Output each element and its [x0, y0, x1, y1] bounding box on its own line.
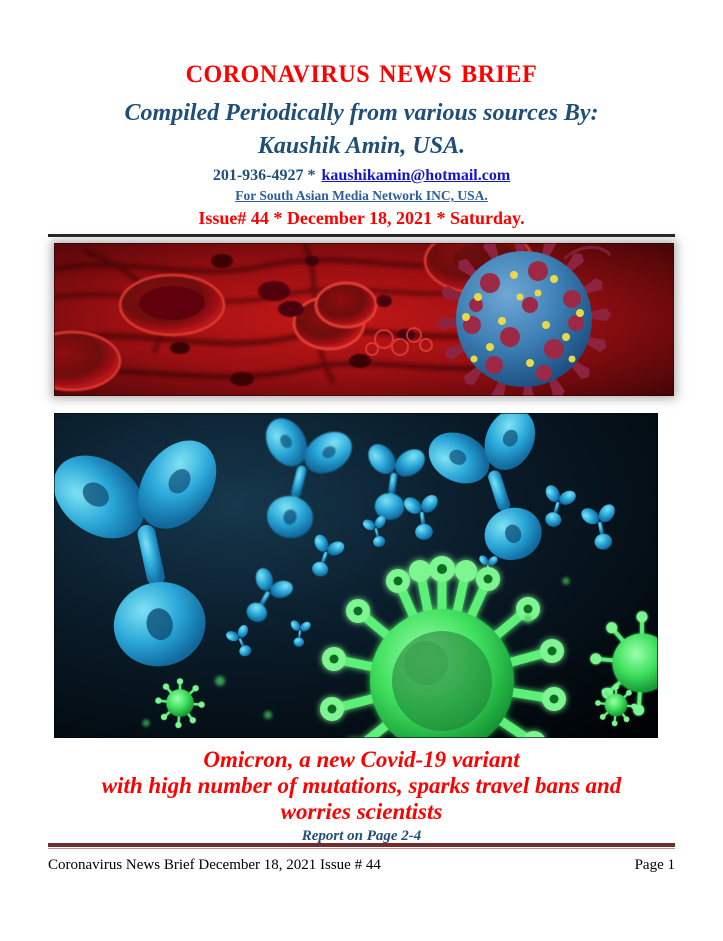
contact-line: 201-936-4927 *kaushikamin@hotmail.com [48, 160, 675, 185]
blood-cells-coronavirus-banner [54, 243, 674, 396]
author-name: Kaushik Amin, USA. [48, 128, 675, 160]
phone-number: 201-936-4927 * [213, 167, 316, 184]
issue-date-line: Issue# 44 * December 18, 2021 * Saturday… [48, 204, 675, 229]
footer-divider [48, 843, 675, 847]
page-title: Coronavirus News Brief [61, 0, 663, 90]
page-footer: Coronavirus News Brief December 18, 2021… [48, 843, 675, 875]
network-link[interactable]: For South Asian Media Network INC, USA. [48, 185, 675, 204]
page-number: Page 1 [635, 856, 675, 875]
antibodies-virus-photo [54, 413, 658, 738]
email-link[interactable]: kaushikamin@hotmail.com [315, 167, 510, 184]
newsletter-page: Coronavirus News Brief Compiled Periodic… [0, 0, 723, 941]
headline-caption: Omicron, a new Covid-19 variant with hig… [48, 738, 675, 825]
masthead-divider [48, 234, 675, 237]
caption-line-1: Omicron, a new Covid-19 variant [48, 747, 675, 773]
compiled-byline: Compiled Periodically from various sourc… [48, 90, 675, 128]
photo-illustration [54, 413, 658, 738]
caption-line-3: worries scientists [48, 799, 675, 825]
banner-illustration [54, 243, 674, 396]
footer-title: Coronavirus News Brief December 18, 2021… [48, 856, 381, 875]
caption-line-2: with high number of mutations, sparks tr… [48, 773, 675, 799]
page-content: Coronavirus News Brief Compiled Periodic… [48, 0, 675, 846]
